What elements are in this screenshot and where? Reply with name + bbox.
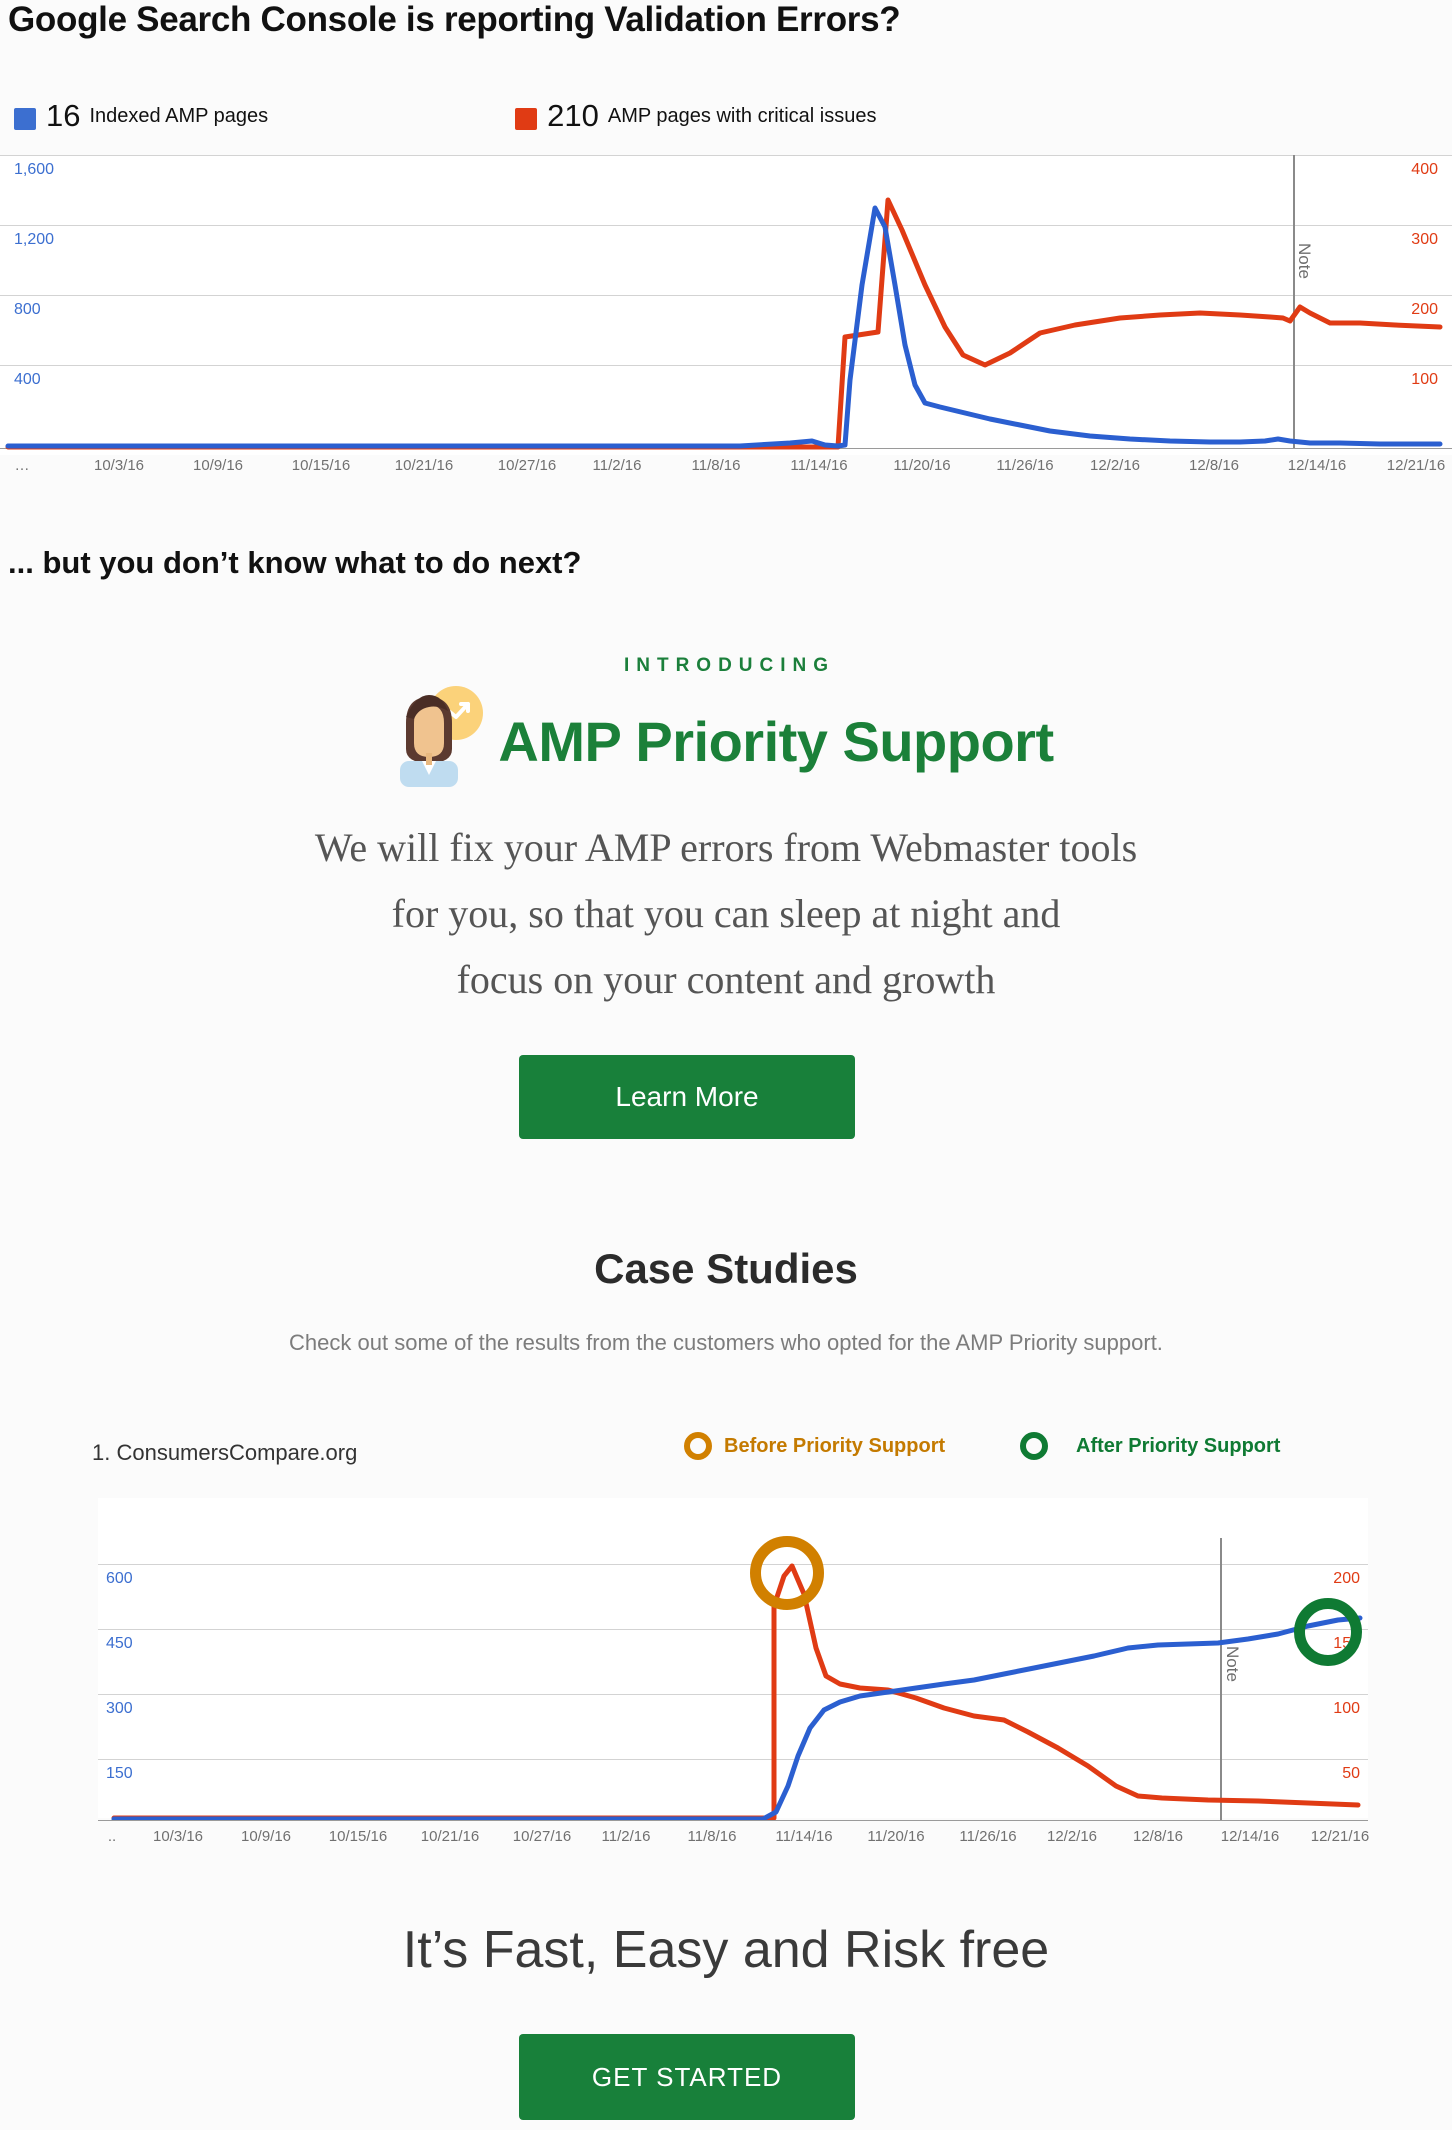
x-tick: 10/27/16 <box>498 457 556 474</box>
case-studies-heading: Case Studies <box>0 1245 1452 1293</box>
consumerscompare-case-chart: 600 450 300 150 200 150 100 50 Note .. 1… <box>98 1498 1368 1818</box>
legend-swatch-red-icon <box>515 108 537 130</box>
series-line-critical-issues <box>114 1566 1358 1818</box>
x-tick: 10/15/16 <box>292 457 350 474</box>
x-tick: 10/21/16 <box>421 1828 479 1845</box>
x-tick-ellipsis: .. <box>108 1828 116 1845</box>
legend-value-indexed: 16 <box>46 100 80 131</box>
before-support-label: Before Priority Support <box>724 1435 945 1458</box>
get-started-button[interactable]: GET STARTED <box>519 2034 855 2120</box>
after-support-ring-icon <box>1020 1432 1048 1460</box>
x-tick: 11/14/16 <box>790 457 847 474</box>
brand-row: AMP Priority Support <box>0 689 1452 793</box>
x-tick: 11/20/16 <box>893 457 950 474</box>
legend-value-critical: 210 <box>547 100 599 131</box>
pitch-line-2: for you, so that you can sleep at night … <box>0 881 1452 947</box>
x-tick: 10/9/16 <box>193 457 243 474</box>
before-support-highlight-circle <box>750 1536 824 1610</box>
x-tick: 11/2/16 <box>602 1828 651 1845</box>
x-tick: 11/26/16 <box>996 457 1053 474</box>
case-legend-before: Before Priority Support <box>684 1432 945 1460</box>
legend-item-indexed-amp-pages: 16 Indexed AMP pages <box>14 100 268 131</box>
learn-more-button[interactable]: Learn More <box>519 1055 855 1139</box>
x-tick: 11/26/16 <box>959 1828 1016 1845</box>
series-line-indexed-amp-pages <box>8 208 1440 446</box>
section-subtitle: ... but you don’t know what to do next? <box>8 545 581 581</box>
x-tick: 11/8/16 <box>688 1828 737 1845</box>
case-study-name: 1. ConsumersCompare.org <box>92 1440 357 1466</box>
x-tick: 10/3/16 <box>94 457 144 474</box>
landing-page: Google Search Console is reporting Valid… <box>0 0 1452 2130</box>
x-tick: 10/9/16 <box>241 1828 291 1845</box>
chart2-plot-area <box>98 1498 1368 1820</box>
x-tick: 12/2/16 <box>1047 1828 1097 1845</box>
after-support-label: After Priority Support <box>1076 1435 1280 1458</box>
page-title: Google Search Console is reporting Valid… <box>8 0 900 40</box>
case-legend-after: After Priority Support <box>1020 1432 1280 1460</box>
brand-title: AMP Priority Support <box>498 709 1053 774</box>
x-tick: 12/21/16 <box>1387 457 1445 474</box>
x-tick: 12/14/16 <box>1288 457 1346 474</box>
introducing-block: INTRODUCING AMP Priority Support <box>0 655 1452 793</box>
series-line-indexed-amp-pages <box>114 1618 1360 1819</box>
chart1-legend: 16 Indexed AMP pages 210 AMP pages with … <box>14 100 877 131</box>
pitch-copy: We will fix your AMP errors from Webmast… <box>0 815 1452 1013</box>
legend-swatch-blue-icon <box>14 108 36 130</box>
x-tick-ellipsis: … <box>15 457 30 474</box>
case-studies-subheading: Check out some of the results from the c… <box>0 1330 1452 1356</box>
after-support-highlight-circle <box>1294 1598 1362 1666</box>
legend-item-critical-issues: 210 AMP pages with critical issues <box>515 100 876 131</box>
x-tick: 12/21/16 <box>1311 1828 1369 1845</box>
x-tick: 12/14/16 <box>1221 1828 1279 1845</box>
chart1-plot-area <box>0 155 1452 455</box>
x-tick: 10/15/16 <box>329 1828 387 1845</box>
x-tick: 12/8/16 <box>1133 1828 1183 1845</box>
x-axis-line <box>98 1820 1368 1821</box>
x-tick: 11/20/16 <box>867 1828 924 1845</box>
pitch-line-3: focus on your content and growth <box>0 947 1452 1013</box>
x-tick: 11/8/16 <box>692 457 741 474</box>
x-tick: 12/2/16 <box>1090 457 1140 474</box>
x-tick: 10/21/16 <box>395 457 453 474</box>
pitch-line-1: We will fix your AMP errors from Webmast… <box>0 815 1452 881</box>
x-tick: 11/2/16 <box>593 457 642 474</box>
x-tick: 12/8/16 <box>1189 457 1239 474</box>
closing-headline: It’s Fast, Easy and Risk free <box>0 1920 1452 1980</box>
woman-growth-avatar-icon <box>398 683 484 787</box>
before-support-ring-icon <box>684 1432 712 1460</box>
legend-label-critical: AMP pages with critical issues <box>608 106 877 126</box>
x-tick: 10/3/16 <box>153 1828 203 1845</box>
gsc-amp-validation-chart: 1,600 1,200 800 400 400 300 200 100 Note… <box>0 155 1452 455</box>
x-tick: 10/27/16 <box>513 1828 571 1845</box>
legend-label-indexed: Indexed AMP pages <box>89 106 268 126</box>
eyebrow-label: INTRODUCING <box>0 655 1452 677</box>
x-tick: 11/14/16 <box>775 1828 832 1845</box>
series-line-critical-issues <box>8 200 1440 447</box>
